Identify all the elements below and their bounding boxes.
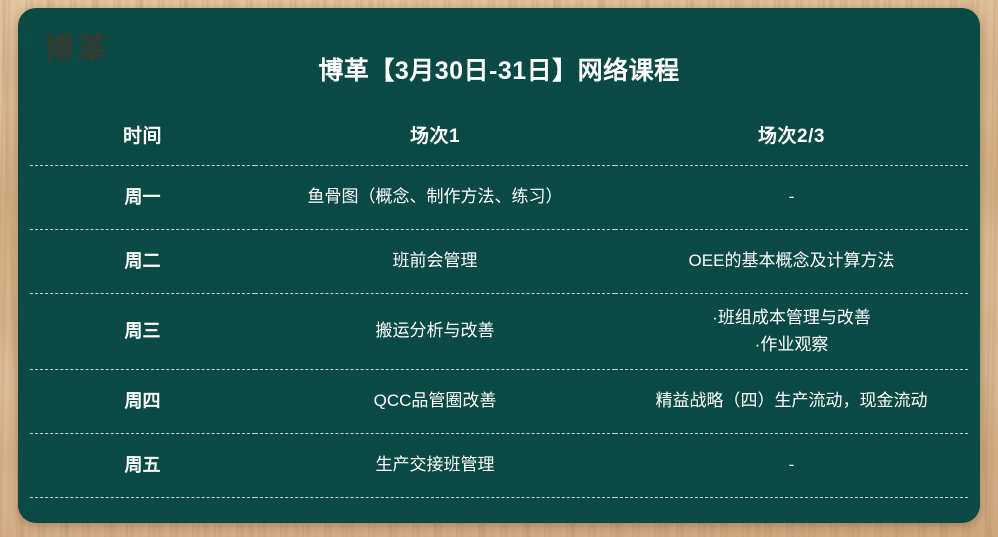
cell-session23: - xyxy=(615,166,968,230)
table-row: 周二 班前会管理 OEE的基本概念及计算方法 xyxy=(30,230,968,294)
cell-day: 周四 xyxy=(30,370,255,434)
cell-session23-line: 精益战略（四）生产流动，现金流动 xyxy=(615,388,968,414)
table-row: 周三 搬运分析与改善 ·班组成本管理与改善 ·作业观察 xyxy=(30,294,968,370)
cell-session1: 搬运分析与改善 xyxy=(255,294,615,370)
cell-session23-line: ·作业观察 xyxy=(615,332,968,358)
column-header-session1: 场次1 xyxy=(255,103,615,166)
table-body: 周一 鱼骨图（概念、制作方法、练习） - 周二 班前会管理 OEE的基本概念及计… xyxy=(30,166,968,498)
cell-session1: 生产交接班管理 xyxy=(255,434,615,498)
column-header-session23: 场次2/3 xyxy=(615,103,968,166)
schedule-card: 博革 博革【3月30日-31日】网络课程 时间 场次1 场次2/3 周一 鱼骨图… xyxy=(18,8,980,523)
cell-session23-line: - xyxy=(615,452,968,478)
table-row: 周一 鱼骨图（概念、制作方法、练习） - xyxy=(30,166,968,230)
table-header: 时间 场次1 场次2/3 xyxy=(30,103,968,166)
cell-session1: 鱼骨图（概念、制作方法、练习） xyxy=(255,166,615,230)
course-schedule-table: 时间 场次1 场次2/3 周一 鱼骨图（概念、制作方法、练习） - 周二 班前会… xyxy=(30,103,968,498)
cell-session23-line: ·班组成本管理与改善 xyxy=(615,305,968,331)
table-row: 周四 QCC品管圈改善 精益战略（四）生产流动，现金流动 xyxy=(30,370,968,434)
cell-session23: ·班组成本管理与改善 ·作业观察 xyxy=(615,294,968,370)
cell-session23: OEE的基本概念及计算方法 xyxy=(615,230,968,294)
table-row: 周五 生产交接班管理 - xyxy=(30,434,968,498)
cell-session23-line: - xyxy=(615,184,968,210)
cell-day: 周三 xyxy=(30,294,255,370)
table-header-row: 时间 场次1 场次2/3 xyxy=(30,103,968,166)
cell-session23: 精益战略（四）生产流动，现金流动 xyxy=(615,370,968,434)
cell-session23-line: OEE的基本概念及计算方法 xyxy=(615,248,968,274)
cell-session1: QCC品管圈改善 xyxy=(255,370,615,434)
cell-day: 周一 xyxy=(30,166,255,230)
page-title: 博革【3月30日-31日】网络课程 xyxy=(18,56,980,86)
cell-day: 周五 xyxy=(30,434,255,498)
column-header-time: 时间 xyxy=(30,103,255,166)
cell-day: 周二 xyxy=(30,230,255,294)
cell-session1: 班前会管理 xyxy=(255,230,615,294)
cell-session23: - xyxy=(615,434,968,498)
